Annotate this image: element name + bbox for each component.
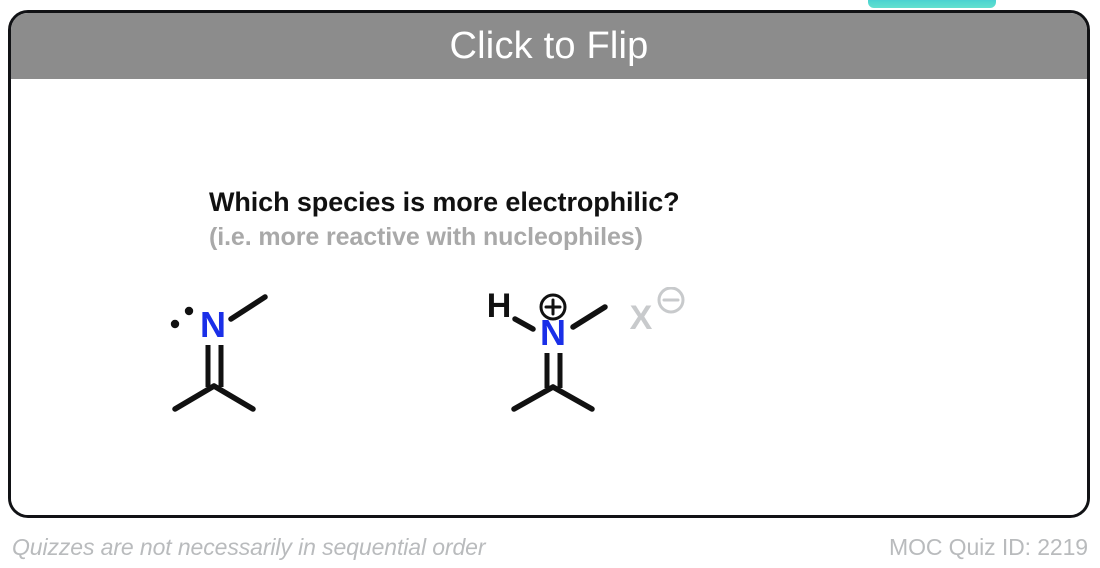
lone-pair-dot-icon (171, 320, 179, 328)
bond-methyl-right (214, 386, 253, 409)
counterion-label-x: X (630, 299, 653, 337)
bond-n-methyl (573, 307, 605, 327)
atom-label-nitrogen: N (200, 304, 226, 345)
footer-sequence-note: Quizzes are not necessarily in sequentia… (12, 534, 485, 561)
footer-quiz-id: MOC Quiz ID: 2219 (889, 534, 1088, 561)
imine-skeleton-svg: N (161, 287, 331, 412)
flashcard[interactable]: Click to Flip Which species is more elec… (8, 10, 1090, 518)
card-header-flip-bar[interactable]: Click to Flip (11, 13, 1087, 79)
card-body: Which species is more electrophilic? (i.… (11, 79, 1087, 515)
page-footer: Quizzes are not necessarily in sequentia… (0, 528, 1100, 568)
bond-methyl-right (553, 387, 592, 409)
structures-row: N H (11, 79, 1090, 515)
bond-n-methyl (231, 297, 265, 319)
protonated-imine-skeleton-svg: H N (481, 287, 741, 412)
teal-pill-banner[interactable] (868, 0, 996, 8)
atom-label-nitrogen: N (540, 312, 566, 353)
flashcard-page: Click to Flip Which species is more elec… (0, 0, 1100, 568)
atom-label-hydrogen: H (487, 287, 512, 325)
bond-methyl-left (175, 386, 214, 409)
flip-title: Click to Flip (450, 27, 649, 65)
lone-pair-dot-icon (185, 307, 193, 315)
bond-methyl-left (514, 387, 553, 409)
structure-imine: N (161, 287, 411, 412)
bond-n-hydrogen (515, 319, 533, 329)
structure-protonated-imine: H N (481, 287, 801, 412)
